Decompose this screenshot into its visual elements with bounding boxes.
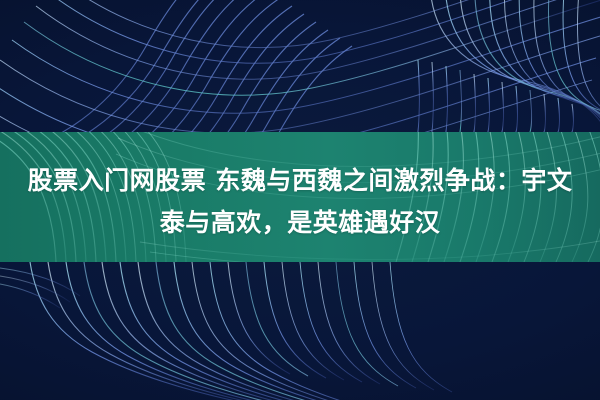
bottom-left-accent-group xyxy=(0,268,80,308)
top-right-stem-group xyxy=(418,60,574,132)
headline-line-1: 股票入门网股票 东魏与西魏之间激烈争战：宇文 xyxy=(0,160,600,202)
bottom-wave-group xyxy=(30,262,452,400)
banner-image: 股票入门网股票 东魏与西魏之间激烈争战：宇文 泰与高欢，是英雄遇好汉 xyxy=(0,0,600,400)
top-right-wave-group xyxy=(430,0,600,140)
headline-text: 股票入门网股票 东魏与西魏之间激烈争战：宇文 泰与高欢，是英雄遇好汉 xyxy=(0,160,600,244)
headline-line-2: 泰与高欢，是英雄遇好汉 xyxy=(0,202,600,244)
